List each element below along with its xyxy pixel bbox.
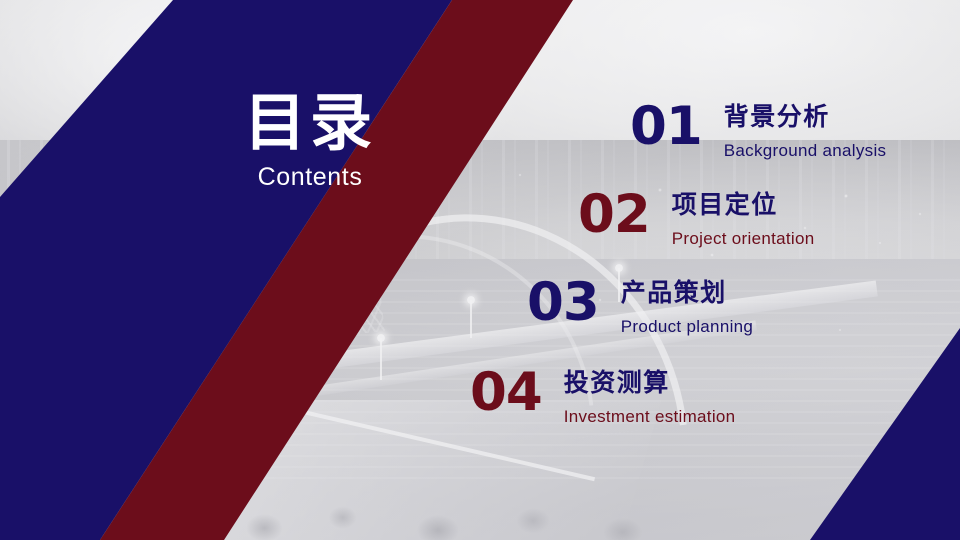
agenda-number: 03 xyxy=(527,276,599,329)
agenda-label-cn: 产品策划 xyxy=(621,279,753,308)
agenda-label-cn: 投资测算 xyxy=(564,369,736,398)
agenda-label-en: Investment estimation xyxy=(564,407,736,427)
agenda-label-cn: 项目定位 xyxy=(672,191,815,220)
agenda-item-04[interactable]: 04 投资测算 Investment estimation xyxy=(470,366,735,427)
agenda-number: 01 xyxy=(630,100,702,153)
agenda-number: 04 xyxy=(470,366,542,419)
agenda-item-texts: 项目定位 Project orientation xyxy=(672,188,815,249)
agenda-item-01[interactable]: 01 背景分析 Background analysis xyxy=(630,100,886,161)
agenda-item-03[interactable]: 03 产品策划 Product planning xyxy=(527,276,753,337)
agenda-item-texts: 投资测算 Investment estimation xyxy=(564,366,736,427)
agenda-list: 01 背景分析 Background analysis 02 项目定位 Proj… xyxy=(0,0,960,540)
agenda-label-en: Background analysis xyxy=(724,141,887,161)
agenda-label-cn: 背景分析 xyxy=(724,103,887,132)
agenda-label-en: Project orientation xyxy=(672,229,815,249)
agenda-number: 02 xyxy=(578,188,650,241)
agenda-item-texts: 产品策划 Product planning xyxy=(621,276,753,337)
presentation-slide: 目录 Contents 01 背景分析 Background analysis … xyxy=(0,0,960,540)
agenda-item-02[interactable]: 02 项目定位 Project orientation xyxy=(578,188,815,249)
agenda-item-texts: 背景分析 Background analysis xyxy=(724,100,887,161)
agenda-label-en: Product planning xyxy=(621,317,753,337)
